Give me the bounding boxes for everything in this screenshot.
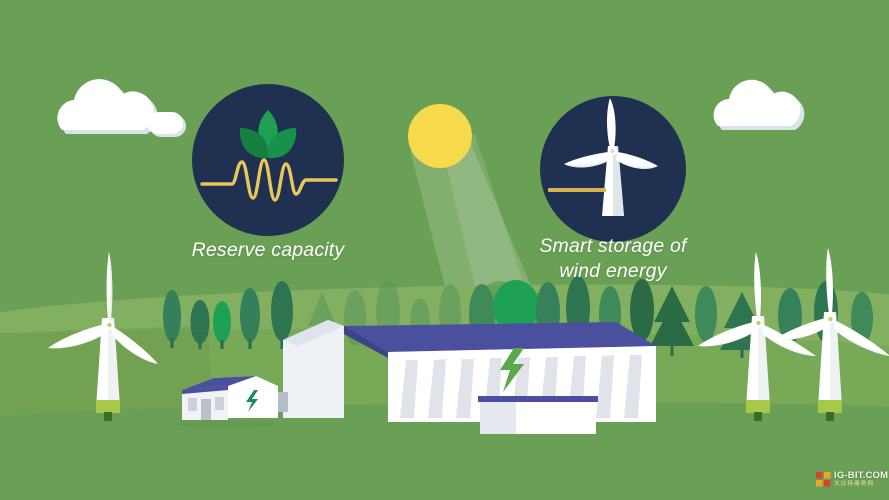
- small-house: [170, 374, 282, 428]
- wind-turbine-icon: [540, 96, 686, 242]
- wind-turbine-left: [44, 248, 174, 428]
- badge-smart-storage[interactable]: [540, 96, 686, 242]
- illustration-canvas: Reserve capacity Smart storage of wind e…: [0, 0, 889, 500]
- watermark-main-text: IG-BIT.COM: [834, 471, 888, 481]
- sun-icon: [408, 104, 472, 168]
- caption-smart-storage: Smart storage of wind energy: [503, 234, 723, 284]
- wind-turbine-right-front: [772, 246, 889, 428]
- warehouse-building: [278, 300, 678, 445]
- watermark: IG-BIT.COM 大比特商务网: [816, 471, 888, 488]
- caption-reserve-capacity: Reserve capacity: [158, 238, 378, 263]
- grid-logo-icon: [816, 472, 831, 487]
- watermark-sub-text: 大比特商务网: [834, 482, 888, 488]
- badge-reserve-capacity[interactable]: [192, 84, 344, 236]
- leaves-with-waveform-icon: [192, 84, 344, 236]
